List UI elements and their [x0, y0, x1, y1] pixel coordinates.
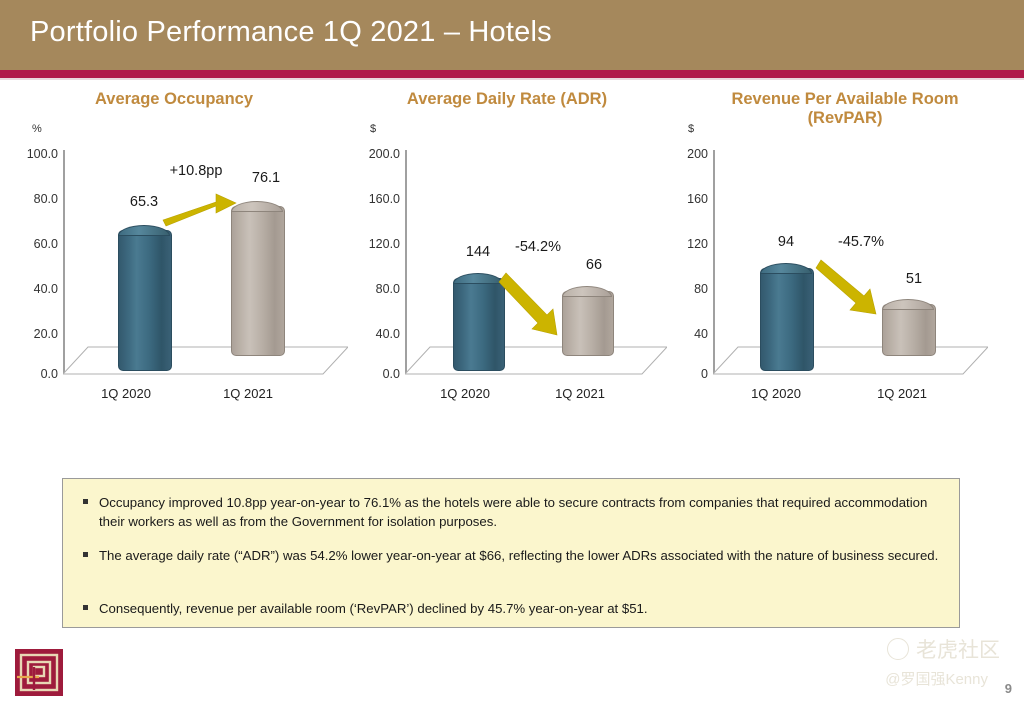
chart-floor — [63, 344, 348, 379]
y-axis-line — [63, 150, 65, 374]
chart-floor — [713, 344, 988, 379]
logo-mark-icon — [15, 649, 63, 696]
chart-title-line2: (RevPAR) — [808, 109, 883, 127]
note-text: The average daily rate (“ADR”) was 54.2%… — [99, 547, 945, 566]
bullet-icon — [83, 547, 99, 566]
trend-arrow-down-icon — [503, 267, 573, 342]
note-text: Consequently, revenue per available room… — [99, 600, 945, 619]
note-text: Occupancy improved 10.8pp year-on-year t… — [99, 494, 945, 531]
bar-value-label: 65.3 — [130, 194, 158, 210]
bar-value-label: 144 — [466, 244, 490, 260]
bar-body — [760, 268, 814, 371]
y-tick-label: 0.0 — [348, 367, 400, 381]
y-tick-label: 200 — [666, 147, 708, 161]
watermark-primary-text: 老虎社区 — [916, 634, 1000, 664]
chart-floor — [405, 344, 667, 379]
y-tick-label: 40.0 — [0, 282, 58, 296]
bar-top-cap — [453, 273, 503, 284]
y-tick-label: 40.0 — [348, 327, 400, 341]
bar-body — [882, 304, 936, 356]
y-axis-unit: $ — [688, 123, 694, 135]
bar-1q-2020 — [760, 263, 812, 371]
bullet-icon — [83, 600, 99, 619]
x-axis-label: 1Q 2021 — [223, 386, 273, 401]
company-logo — [15, 649, 63, 696]
bar-top-cap — [760, 263, 812, 274]
x-axis-label: 1Q 2020 — [101, 386, 151, 401]
bar-value-label: 66 — [586, 257, 602, 273]
y-axis-unit: $ — [370, 123, 376, 135]
chart-average-daily-rate: Average Daily Rate (ADR) $ 200.0 160.0 1… — [348, 84, 666, 404]
bar-body — [118, 230, 172, 371]
delta-annotation: -54.2% — [515, 239, 561, 255]
list-item: Consequently, revenue per available room… — [83, 600, 945, 619]
list-item: The average daily rate (“ADR”) was 54.2%… — [83, 547, 945, 566]
bar-value-label: 94 — [778, 234, 794, 250]
trend-arrow-up-icon — [160, 184, 240, 229]
y-tick-label: 200.0 — [348, 147, 400, 161]
y-tick-label: 120 — [666, 237, 708, 251]
bar-top-cap — [882, 299, 934, 310]
bullet-icon — [83, 494, 99, 531]
bar-1q-2020 — [118, 225, 170, 371]
y-tick-label: 100.0 — [0, 147, 58, 161]
page-number: 9 — [1005, 681, 1012, 696]
y-tick-label: 40 — [666, 327, 708, 341]
x-axis-label: 1Q 2021 — [555, 386, 605, 401]
bar-1q-2020 — [453, 273, 503, 371]
chart-average-occupancy: Average Occupancy % 100.0 80.0 60.0 40.0… — [0, 84, 348, 404]
list-item: Occupancy improved 10.8pp year-on-year t… — [83, 494, 945, 531]
page-title: Portfolio Performance 1Q 2021 – Hotels — [30, 16, 552, 49]
commentary-box: Occupancy improved 10.8pp year-on-year t… — [62, 478, 960, 628]
bar-1q-2021 — [882, 299, 934, 356]
x-axis-label: 1Q 2021 — [877, 386, 927, 401]
header-accent-rule-shadow — [0, 78, 1024, 80]
header-accent-rule — [0, 70, 1024, 78]
charts-row: Average Occupancy % 100.0 80.0 60.0 40.0… — [0, 84, 1024, 404]
y-tick-label: 80.0 — [348, 282, 400, 296]
y-tick-label: 0.0 — [0, 367, 58, 381]
watermark-primary: 老虎社区 — [887, 634, 1000, 664]
y-tick-label: 80.0 — [0, 192, 58, 206]
y-tick-label: 0 — [666, 367, 708, 381]
y-axis-line — [713, 150, 715, 374]
chart-title: Average Occupancy — [0, 90, 348, 109]
x-axis-label: 1Q 2020 — [440, 386, 490, 401]
chart-title: Average Daily Rate (ADR) — [348, 90, 666, 109]
slide-header: Portfolio Performance 1Q 2021 – Hotels — [0, 0, 1024, 70]
y-tick-label: 20.0 — [0, 327, 58, 341]
y-axis-line — [405, 150, 407, 374]
y-axis-unit: % — [32, 123, 42, 135]
chart-revpar: Revenue Per Available Room (RevPAR) $ 20… — [666, 84, 1024, 404]
bar-value-label: 51 — [906, 271, 922, 287]
delta-annotation: -45.7% — [838, 234, 884, 250]
x-axis-label: 1Q 2020 — [751, 386, 801, 401]
y-tick-label: 120.0 — [348, 237, 400, 251]
watermark-logo-icon — [887, 638, 909, 660]
bar-body — [453, 278, 505, 371]
chart-title: Revenue Per Available Room (RevPAR) — [666, 90, 1024, 128]
y-tick-label: 60.0 — [0, 237, 58, 251]
trend-arrow-down-icon — [818, 256, 888, 318]
y-tick-label: 80 — [666, 282, 708, 296]
y-tick-label: 160.0 — [348, 192, 400, 206]
y-tick-label: 160 — [666, 192, 708, 206]
bar-value-label: 76.1 — [252, 170, 280, 186]
chart-title-line1: Revenue Per Available Room — [731, 90, 958, 108]
watermark-secondary: @罗国强Kenny — [885, 668, 988, 689]
delta-annotation: +10.8pp — [170, 163, 223, 179]
